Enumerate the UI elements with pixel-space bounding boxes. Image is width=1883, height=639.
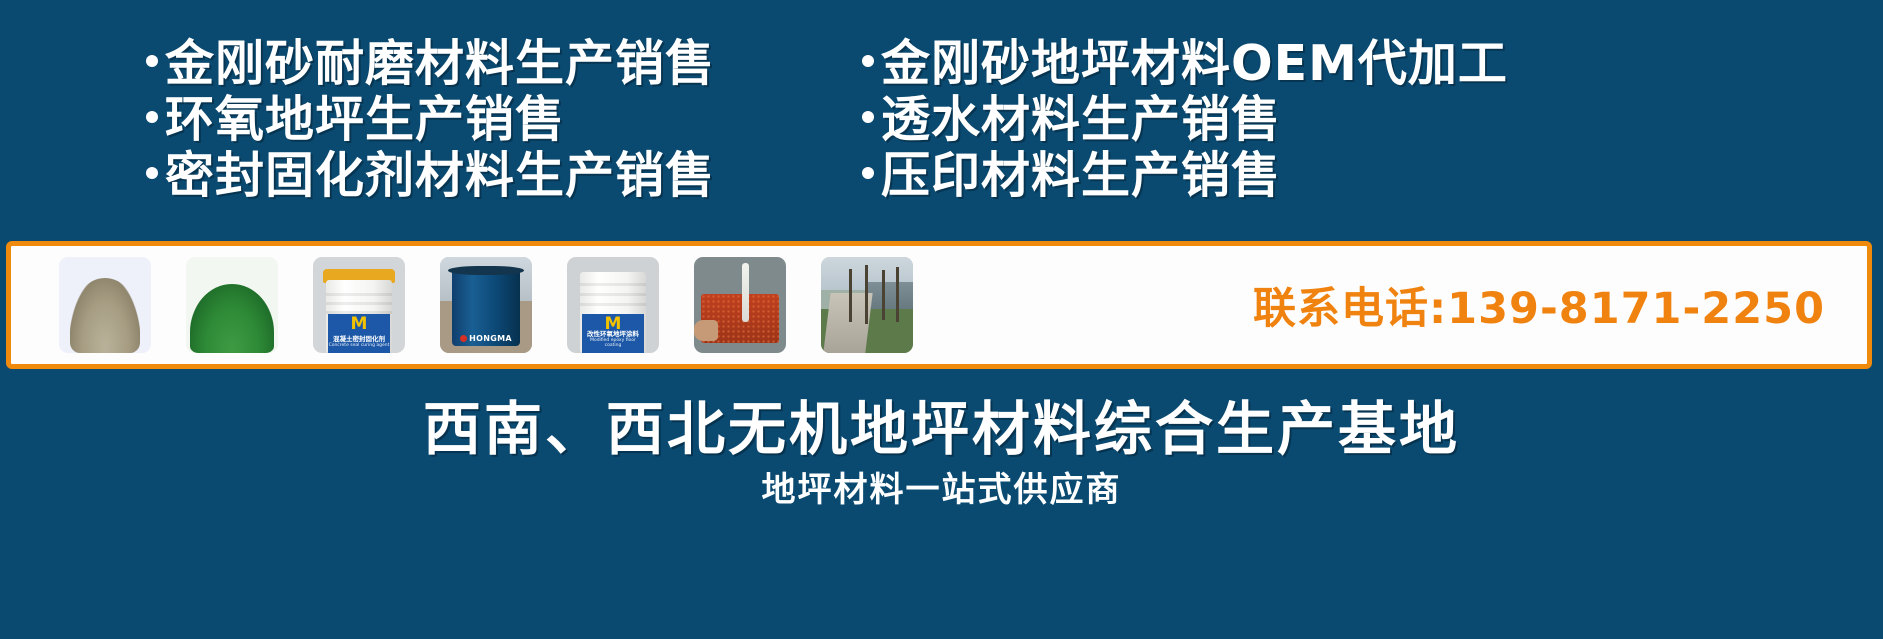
product-thumbnail-paver-walkway [821, 257, 913, 353]
product-thumbnail-grey-powder [59, 257, 151, 353]
service-label: 环氧地坪生产销售 [165, 92, 565, 148]
service-item: 密封固化剂材料生产销售 [146, 148, 715, 204]
service-item: 压印材料生产销售 [862, 148, 1508, 204]
service-label: 透水材料生产销售 [881, 92, 1281, 148]
bullet-dot-icon [146, 55, 158, 67]
pail-graphic: M 改性环氧地坪涂料 Modified epoxy floor coating [580, 269, 646, 353]
pail-label-text: 改性环氧地坪涂料 Modified epoxy floor coating [582, 331, 644, 349]
services-right-column: 金刚砂地坪材料OEM代加工 透水材料生产销售 压印材料生产销售 [862, 36, 1508, 204]
brand-dot-icon [460, 335, 467, 342]
footer-headline: 西南、西北无机地坪材料综合生产基地 [0, 382, 1883, 466]
footer-subline: 地坪材料一站式供应商 [0, 462, 1883, 511]
product-thumbnail-green-powder [186, 257, 278, 353]
product-thumbnail-epoxy-pail: M 改性环氧地坪涂料 Modified epoxy floor coating [567, 257, 659, 353]
product-thumbnail-permeable-slab [694, 257, 786, 353]
bullet-dot-icon [146, 111, 158, 123]
service-item: 透水材料生产销售 [862, 92, 1508, 148]
services-left-column: 金刚砂耐磨材料生产销售 环氧地坪生产销售 密封固化剂材料生产销售 [146, 36, 715, 204]
pour-stream [742, 263, 749, 323]
bullet-dot-icon [146, 167, 158, 179]
service-label: 压印材料生产销售 [881, 148, 1281, 204]
hand-graphic [694, 320, 718, 341]
brand-mark-icon: M [351, 316, 368, 333]
advertising-banner: 金刚砂耐磨材料生产销售 环氧地坪生产销售 密封固化剂材料生产销售 金刚砂地坪材料… [0, 0, 1883, 639]
pail-label: M 改性环氧地坪涂料 Modified epoxy floor coating [582, 314, 644, 353]
service-label: 密封固化剂材料生产销售 [165, 148, 715, 204]
product-thumbnail-strip: M 混凝土密封固化剂 Concrete seal curing agent HO… [59, 257, 913, 353]
service-item: 金刚砂耐磨材料生产销售 [146, 36, 715, 92]
bullet-dot-icon [862, 111, 874, 123]
services-section: 金刚砂耐磨材料生产销售 环氧地坪生产销售 密封固化剂材料生产销售 金刚砂地坪材料… [0, 0, 1883, 237]
service-item: 金刚砂地坪材料OEM代加工 [862, 36, 1508, 92]
product-thumbnail-hongma-drum: HONGMA [440, 257, 532, 353]
bullet-dot-icon [862, 167, 874, 179]
contact-phone[interactable]: 联系电话:139-8171-2250 [1253, 274, 1825, 336]
product-panel: M 混凝土密封固化剂 Concrete seal curing agent HO… [6, 241, 1872, 369]
bullet-dot-icon [862, 55, 874, 67]
drum-top-rim [448, 266, 523, 276]
service-item: 环氧地坪生产销售 [146, 92, 715, 148]
service-label: 金刚砂地坪材料OEM代加工 [881, 36, 1508, 92]
pail-graphic: M 混凝土密封固化剂 Concrete seal curing agent [326, 269, 392, 353]
pail-label-text: 混凝土密封固化剂 Concrete seal curing agent [328, 336, 390, 349]
drum-brand-text: HONGMA [440, 334, 532, 343]
service-label: 金刚砂耐磨材料生产销售 [165, 36, 715, 92]
pail-label: M 混凝土密封固化剂 Concrete seal curing agent [328, 314, 390, 353]
product-thumbnail-sealer-pail: M 混凝土密封固化剂 Concrete seal curing agent [313, 257, 405, 353]
